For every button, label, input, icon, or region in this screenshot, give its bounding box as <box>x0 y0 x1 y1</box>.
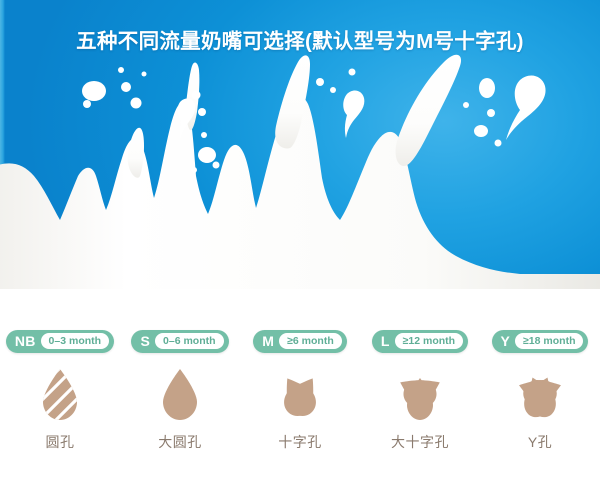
product-nipple-flow-infographic: 五种不同流量奶嘴可选择(默认型号为M号十字孔) NB 0–3 month S 0… <box>0 0 600 477</box>
badge-cell-y: Y ≥18 month <box>480 329 600 353</box>
badge-cell-nb: NB 0–3 month <box>0 329 120 353</box>
droplet-triple-icon <box>382 366 458 424</box>
badge-age: 0–6 month <box>155 333 224 349</box>
badge-code: S <box>131 330 155 353</box>
badge-age: ≥18 month <box>515 333 583 349</box>
badge-code: L <box>372 330 395 353</box>
hole-label-m: 十字孔 <box>240 430 360 454</box>
icon-cell-y <box>480 365 600 425</box>
status-badge[interactable]: M ≥6 month <box>253 330 346 353</box>
status-badge[interactable]: Y ≥18 month <box>492 330 589 353</box>
droplet-pair-icon <box>268 367 332 423</box>
nipple-options-panel: NB 0–3 month S 0–6 month M ≥6 month L <box>0 289 600 477</box>
hero-banner: 五种不同流量奶嘴可选择(默认型号为M号十字孔) <box>0 0 600 289</box>
badge-cell-s: S 0–6 month <box>120 329 240 353</box>
hole-label-l: 大十字孔 <box>360 430 480 454</box>
badge-code: M <box>253 330 279 353</box>
page-title: 五种不同流量奶嘴可选择(默认型号为M号十字孔) <box>0 24 600 54</box>
badge-code: NB <box>6 330 41 353</box>
badge-age: ≥12 month <box>395 333 463 349</box>
icon-cell-nb <box>0 365 120 425</box>
hole-label-y: Y孔 <box>480 430 600 454</box>
hole-icon-row <box>0 365 600 425</box>
status-badge[interactable]: NB 0–3 month <box>6 330 114 353</box>
status-badge[interactable]: L ≥12 month <box>372 330 468 353</box>
icon-cell-m <box>240 365 360 425</box>
badge-age: 0–3 month <box>41 333 110 349</box>
hole-label-row: 圆孔 大圆孔 十字孔 大十字孔 Y孔 <box>0 430 600 454</box>
droplet-quad-icon <box>502 366 578 424</box>
droplet-solid-icon <box>157 367 203 423</box>
hole-label-s: 大圆孔 <box>120 430 240 454</box>
icon-cell-l <box>360 365 480 425</box>
hole-label-nb: 圆孔 <box>0 430 120 454</box>
badge-row: NB 0–3 month S 0–6 month M ≥6 month L <box>0 329 600 353</box>
droplet-striped-icon <box>37 367 83 423</box>
icon-cell-s <box>120 365 240 425</box>
badge-cell-m: M ≥6 month <box>240 329 360 353</box>
badge-code: Y <box>492 330 516 353</box>
badge-age: ≥6 month <box>279 333 342 349</box>
status-badge[interactable]: S 0–6 month <box>131 330 228 353</box>
badge-cell-l: L ≥12 month <box>360 329 480 353</box>
